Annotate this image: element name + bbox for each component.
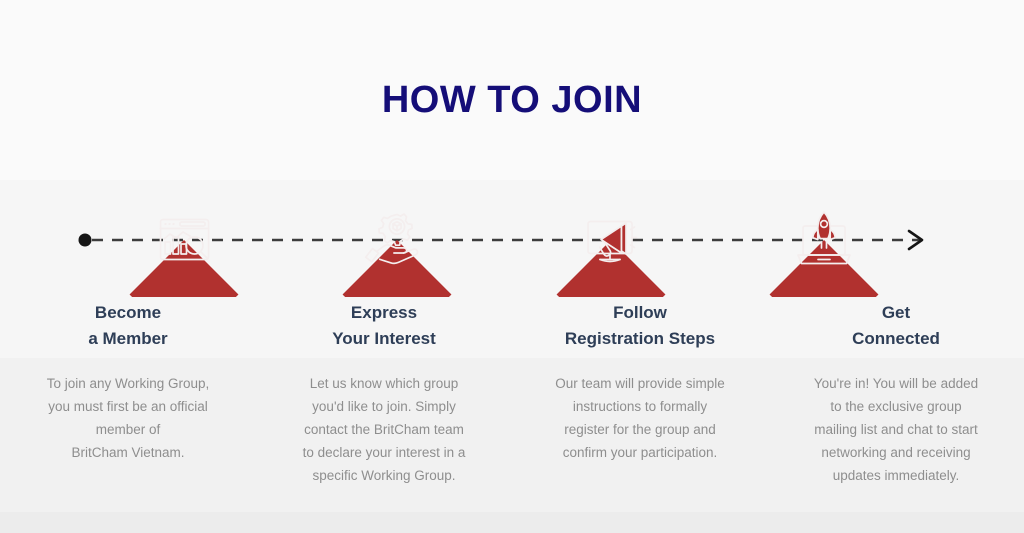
step-body-1: To join any Working Group, you must firs… [12, 372, 244, 464]
timeline-start-dot [79, 234, 92, 247]
diamond-shape-4 [770, 240, 879, 297]
background-band-footer [0, 512, 1024, 533]
timeline-track [0, 185, 1024, 297]
step-node-1 [130, 220, 239, 298]
step-node-2 [343, 214, 452, 297]
steps-list: Become a Member To join any Working Grou… [0, 300, 1024, 487]
step-item-2: Express Your Interest Let us know which … [256, 300, 512, 487]
step-body-2: Let us know which group you'd like to jo… [268, 372, 500, 487]
laptop-rocket-icon [798, 212, 850, 264]
diamond-shape-1 [130, 240, 239, 297]
step-item-3: Follow Registration Steps Our team will … [512, 300, 768, 487]
step-body-3: Our team will provide simple instruction… [524, 372, 756, 464]
step-item-4: Get Connected You're in! You will be add… [768, 300, 1024, 487]
step-node-4 [770, 212, 879, 297]
step-heading-3: Follow Registration Steps [524, 300, 756, 352]
step-body-4: You're in! You will be added to the excl… [780, 372, 1012, 487]
diamond-shape-3 [557, 240, 666, 297]
step-heading-4: Get Connected [780, 300, 1012, 352]
step-heading-1: Become a Member [12, 300, 244, 352]
step-node-3 [557, 222, 666, 298]
page-title: HOW TO JOIN [0, 76, 1024, 124]
browser-chart-search-icon [161, 220, 209, 260]
infographic-canvas: HOW TO JOIN [0, 0, 1024, 533]
step-item-1: Become a Member To join any Working Grou… [0, 300, 256, 487]
step-heading-2: Express Your Interest [268, 300, 500, 352]
